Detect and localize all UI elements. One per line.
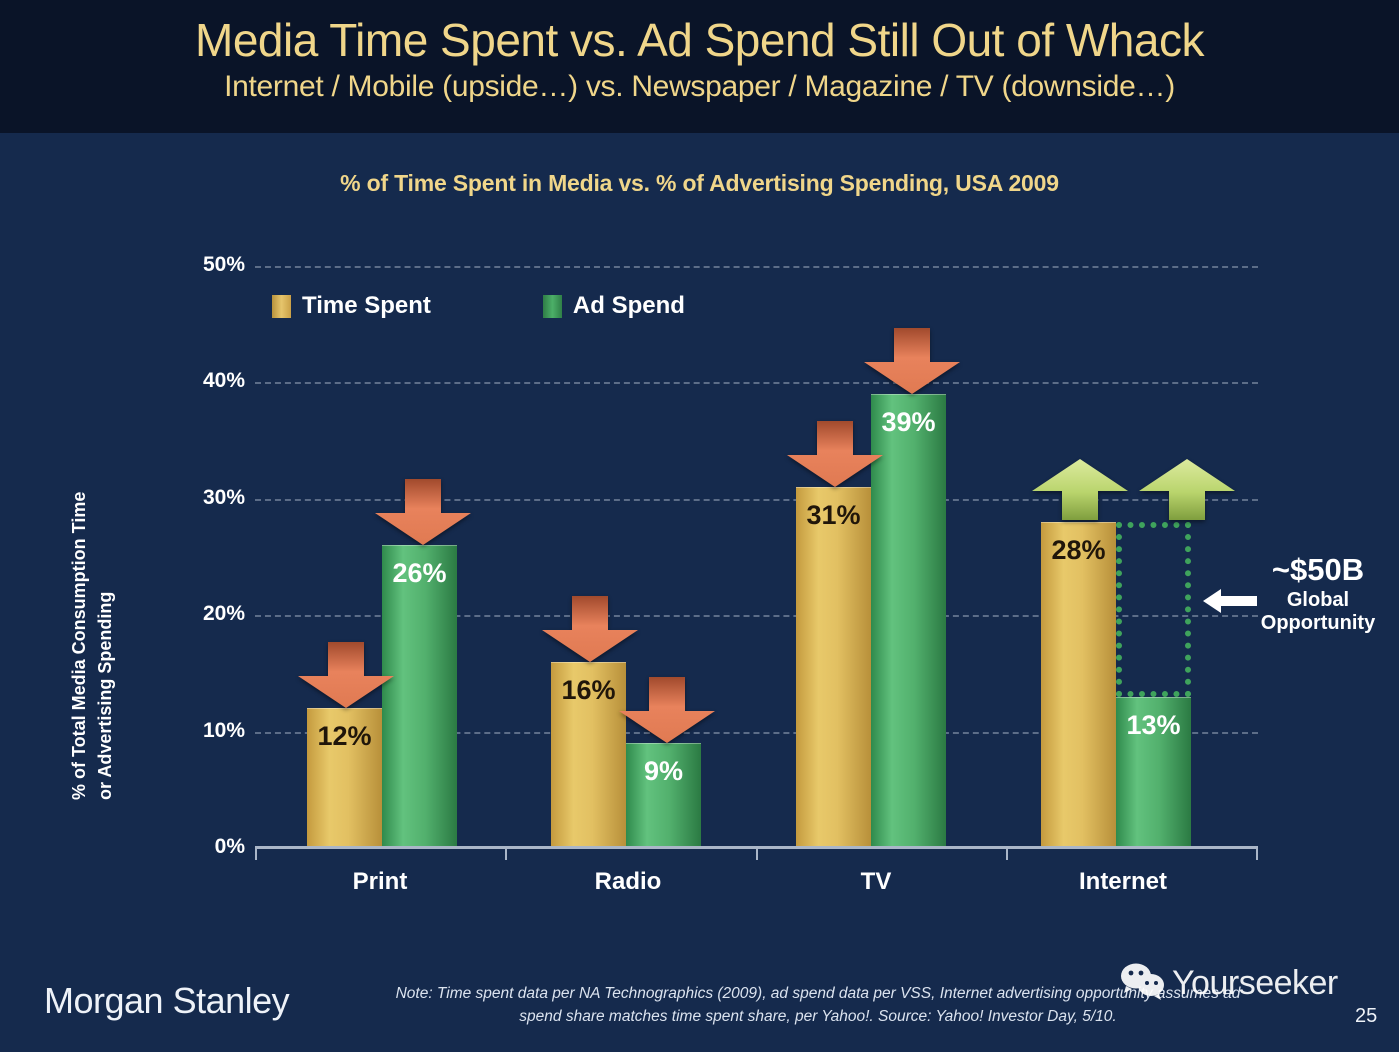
legend-item-time-spent[interactable]: Time Spent bbox=[272, 292, 431, 320]
legend-swatch-icon bbox=[272, 295, 291, 318]
y-axis-title-line2: or Advertising Spending bbox=[95, 592, 116, 800]
y-tick-label: 0% bbox=[175, 835, 245, 859]
callout-line3: Opportunity bbox=[1243, 612, 1393, 636]
bar-value-label: 16% bbox=[551, 675, 626, 706]
y-tick-label: 50% bbox=[175, 253, 245, 277]
y-axis-ticks: 50% 40% 30% 20% 10% 0% bbox=[175, 266, 245, 848]
y-axis-title-line1: % of Total Media Consumption Time bbox=[69, 492, 90, 800]
down-arrow-icon bbox=[298, 642, 394, 708]
legend-swatch-icon bbox=[543, 295, 562, 318]
up-arrow-icon bbox=[1032, 459, 1128, 520]
down-arrow-icon bbox=[864, 328, 960, 394]
bar-internet-ad-spend[interactable]: 13% bbox=[1116, 697, 1191, 848]
slide: Media Time Spent vs. Ad Spend Still Out … bbox=[0, 0, 1399, 1052]
opportunity-highlight-box bbox=[1116, 522, 1191, 697]
legend-label: Time Spent bbox=[302, 292, 431, 320]
bar-value-label: 12% bbox=[307, 721, 382, 752]
x-axis-tick bbox=[756, 846, 758, 860]
footnote-line2: spend share matches time spent share, pe… bbox=[318, 1005, 1318, 1028]
down-arrow-icon bbox=[619, 677, 715, 743]
down-arrow-icon bbox=[787, 421, 883, 487]
x-axis-label-radio: Radio bbox=[548, 868, 708, 896]
up-arrow-icon bbox=[1139, 459, 1235, 520]
slide-header: Media Time Spent vs. Ad Spend Still Out … bbox=[0, 0, 1399, 133]
bar-value-label: 26% bbox=[382, 558, 457, 589]
y-axis-title: % of Total Media Consumption Time or Adv… bbox=[72, 330, 132, 800]
x-axis-tick bbox=[505, 846, 507, 860]
plot-area: 12% 26% 16% 9% 31% 39% 28% 13% bbox=[255, 266, 1258, 848]
bar-value-label: 9% bbox=[626, 756, 701, 787]
footnote-line1: Note: Time spent data per NA Technograph… bbox=[396, 985, 1241, 1002]
bar-value-label: 31% bbox=[796, 500, 871, 531]
callout-amount: ~$50B bbox=[1243, 552, 1393, 589]
x-axis-tick bbox=[1006, 846, 1008, 860]
x-axis-cap-left bbox=[255, 846, 257, 860]
x-axis-label-print: Print bbox=[300, 868, 460, 896]
legend-label: Ad Spend bbox=[573, 292, 685, 320]
x-axis-label-internet: Internet bbox=[1043, 868, 1203, 896]
bar-internet-time-spent[interactable]: 28% bbox=[1041, 522, 1116, 848]
y-tick-label: 40% bbox=[175, 369, 245, 393]
callout-line2: Global bbox=[1243, 589, 1393, 613]
page-number: 25 bbox=[1355, 1005, 1377, 1028]
bar-print-time-spent[interactable]: 12% bbox=[307, 708, 382, 848]
y-tick-label: 20% bbox=[175, 602, 245, 626]
y-tick-label: 10% bbox=[175, 719, 245, 743]
slide-subtitle: Internet / Mobile (upside…) vs. Newspape… bbox=[0, 64, 1399, 103]
legend-item-ad-spend[interactable]: Ad Spend bbox=[543, 292, 685, 320]
down-arrow-icon bbox=[375, 479, 471, 545]
bar-value-label: 28% bbox=[1041, 535, 1116, 566]
bar-radio-ad-spend[interactable]: 9% bbox=[626, 743, 701, 848]
bar-value-label: 13% bbox=[1116, 710, 1191, 741]
opportunity-callout: ~$50B Global Opportunity bbox=[1243, 552, 1393, 636]
y-tick-label: 30% bbox=[175, 486, 245, 510]
gridline bbox=[255, 382, 1258, 384]
chart-title: % of Time Spent in Media vs. % of Advert… bbox=[0, 170, 1399, 197]
gridline bbox=[255, 266, 1258, 268]
slide-title: Media Time Spent vs. Ad Spend Still Out … bbox=[0, 0, 1399, 64]
morgan-stanley-logo: Morgan Stanley bbox=[44, 980, 289, 1022]
bar-tv-time-spent[interactable]: 31% bbox=[796, 487, 871, 848]
bar-radio-time-spent[interactable]: 16% bbox=[551, 662, 626, 848]
x-axis-cap-right bbox=[1256, 846, 1258, 860]
footnote: Note: Time spent data per NA Technograph… bbox=[318, 982, 1318, 1029]
x-axis-label-tv: TV bbox=[796, 868, 956, 896]
chart-legend: Time Spent Ad Spend bbox=[272, 292, 685, 320]
down-arrow-icon bbox=[542, 596, 638, 662]
